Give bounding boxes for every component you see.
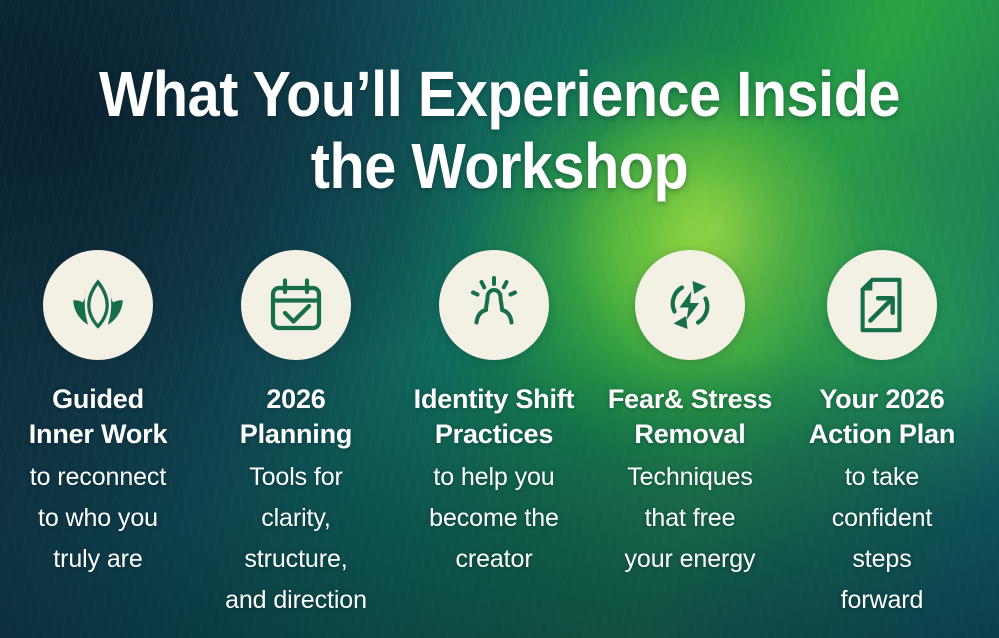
- feature-icon-badge: [43, 250, 153, 360]
- feature-description: to take confident steps forward: [832, 457, 933, 621]
- feature-icon-badge: [827, 250, 937, 360]
- feature-heading: 2026 Planning: [240, 382, 352, 452]
- feature-icon-badge: [241, 250, 351, 360]
- feature-heading: Your 2026 Action Plan: [809, 382, 955, 452]
- feature-item-your-2026-action-plan: Your 2026 Action Plan to take confident …: [784, 250, 980, 621]
- feature-description: to reconnect to who you truly are: [30, 457, 166, 580]
- feature-item-fear-stress-removal: Fear& Stress Removal Techniques that fre…: [592, 250, 788, 580]
- feature-description: Techniques that free your energy: [625, 457, 756, 580]
- refresh-energy-icon: [658, 273, 722, 337]
- calendar-check-icon: [264, 273, 328, 337]
- lotus-flower-icon: [65, 272, 131, 338]
- feature-heading: Fear& Stress Removal: [608, 382, 772, 452]
- document-arrow-icon: [851, 274, 913, 336]
- feature-description: to help you become the creator: [429, 457, 559, 580]
- feature-item-guided-inner-work: Guided Inner Work to reconnect to who yo…: [0, 250, 196, 580]
- feature-heading: Identity Shift Practices: [414, 382, 575, 452]
- page-title: What You’ll Experience Inside the Worksh…: [50, 58, 949, 202]
- feature-heading: Guided Inner Work: [29, 382, 168, 452]
- feature-icon-badge: [439, 250, 549, 360]
- person-insight-icon: [462, 273, 526, 337]
- feature-item-identity-shift-practices: Identity Shift Practices to help you bec…: [396, 250, 592, 580]
- feature-icon-badge: [635, 250, 745, 360]
- feature-item-2026-planning: 2026 Planning Tools for clarity, structu…: [198, 250, 394, 621]
- feature-list: Guided Inner Work to reconnect to who yo…: [0, 250, 999, 621]
- feature-description: Tools for clarity, structure, and direct…: [225, 457, 367, 621]
- workshop-benefits-poster: What You’ll Experience Inside the Worksh…: [0, 0, 999, 638]
